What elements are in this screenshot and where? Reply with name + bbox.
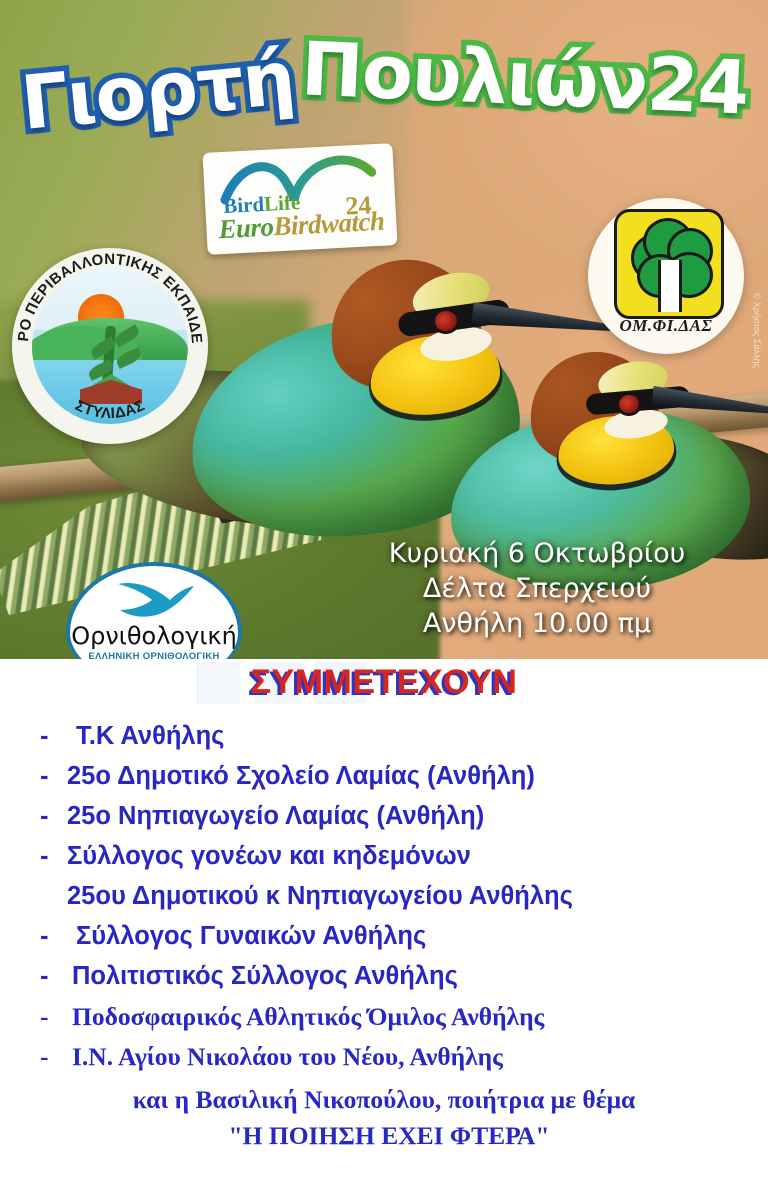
svg-text:ΚΕΝΤΡΟ ΠΕΡΙΒΑΛΛΟΝΤΙΚΗΣ ΕΚΠΑΙΔΕ: ΚΕΝΤΡΟ ΠΕΡΙΒΑΛΛΟΝΤΙΚΗΣ ΕΚΠΑΙΔΕΥΣΗΣ [12,248,205,344]
participants-list: - Τ.Κ Ανθήλης - 25ο Δημοτικό Σχολείο Λαμ… [0,722,768,1082]
photo-credit: © Χρήστος Σάλλης [752,293,762,368]
list-item-label: Ποδοσφαιρικός Αθλητικός Όμιλος Ανθήλης [72,1002,544,1032]
list-bullet: - [40,842,49,871]
closing-line-1: και η Βασιλική Νικοπούλου, ποιήτρια με θ… [0,1085,768,1115]
event-location: Δέλτα Σπερχειού [372,571,702,606]
event-date: Κυριακή 6 Οκτωβρίου [372,536,702,571]
eurobirdwatch-logo: BirdLife EuroBirdwatch 24 [202,143,397,255]
closing-line-2: "Η ΠΟΙΗΣΗ ΕΧΕΙ ΦΤΕΡΑ" [0,1121,768,1151]
swallow-icon [114,578,196,624]
participants-heading: ΣΥΜΜΕΤΕΧΟΥΝ [0,663,768,702]
list-bullet: - [40,762,49,791]
list-bullet: - [40,1042,49,1072]
list-bullet: - [40,962,49,991]
list-item: - 25ο Δημοτικό Σχολείο Λαμίας (Ανθήλη) [0,762,768,802]
kpe-arc-top-text: ΚΕΝΤΡΟ ΠΕΡΙΒΑΛΛΟΝΤΙΚΗΣ ΕΚΠΑΙΔΕΥΣΗΣ [12,248,205,344]
kpe-circular-text: ΚΕΝΤΡΟ ΠΕΡΙΒΑΛΛΟΝΤΙΚΗΣ ΕΚΠΑΙΔΕΥΣΗΣ ΣΤΥΛΙ… [12,248,208,444]
list-item-label: Σύλλογος Γυναικών Ανθήλης [76,922,426,951]
event-details: Κυριακή 6 Οκτωβρίου Δέλτα Σπερχειού Ανθή… [372,536,702,641]
list-item: - Σύλλογος Γυναικών Ανθήλης [0,922,768,962]
closing-note: και η Βασιλική Νικοπούλου, ποιήτρια με θ… [0,1085,768,1151]
list-item: - 25ο Νηπιαγωγείο Λαμίας (Ανθήλη) [0,802,768,842]
event-place-time: Ανθήλη 10.00 πμ [372,606,702,641]
list-bullet: - [40,802,49,831]
list-item-label: Πολιτιστικός Σύλλογος Ανθήλης [72,962,458,991]
list-bullet: - [40,722,49,751]
kpe-arc-bottom-text: ΣΤΥΛΙΔΑΣ [72,397,147,422]
list-item-label: 25ο Δημοτικό Σχολείο Λαμίας (Ανθήλη) [67,762,535,791]
list-bullet: - [40,922,49,951]
list-item-label: Σύλλογος γονέων και κηδεμόνων [67,842,471,871]
svg-text:ΣΤΥΛΙΔΑΣ: ΣΤΥΛΙΔΑΣ [72,397,147,422]
list-item-label: Ι.Ν. Αγίου Νικολάου του Νέου, Ανθήλης [72,1042,503,1072]
tree-trunk-icon [658,260,682,312]
omfidas-logo: ΟΜ.ΦΙ.ΔΑΣ [588,198,744,354]
omfidas-label: ΟΜ.ΦΙ.ΔΑΣ [588,316,744,336]
list-item: - Πολιτιστικός Σύλλογος Ανθήλης [0,962,768,1002]
poster-root: © Χρήστος Σάλλης ΓιορτήΠουλιών24 BirdLif… [0,0,768,1199]
list-bullet: - [40,1002,49,1032]
list-item-label: Τ.Κ Ανθήλης [76,722,224,751]
list-item: - Ι.Ν. Αγίου Νικολάου του Νέου, Ανθήλης [0,1042,768,1082]
eurobirdwatch-year: 24 [345,190,373,221]
list-item-label: 25ου Δημοτικού κ Νηπιαγωγείου Ανθήλης [67,882,573,911]
euro-text: Euro [218,211,275,244]
list-item-label: 25ο Νηπιαγωγείο Λαμίας (Ανθήλη) [67,802,484,831]
ornithologiki-name: Ορνιθολογική [70,622,238,650]
list-item: - Τ.Κ Ανθήλης [0,722,768,762]
list-item: - Ποδοσφαιρικός Αθλητικός Όμιλος Ανθήλης [0,1002,768,1042]
kpe-stylidas-logo: ΚΕΝΤΡΟ ΠΕΡΙΒΑΛΛΟΝΤΙΚΗΣ ΕΚΠΑΙΔΕΥΣΗΣ ΣΤΥΛΙ… [12,248,208,444]
list-item: - Σύλλογος γονέων και κηδεμόνων [0,842,768,882]
list-item-continuation: 25ου Δημοτικού κ Νηπιαγωγείου Ανθήλης [0,882,768,922]
